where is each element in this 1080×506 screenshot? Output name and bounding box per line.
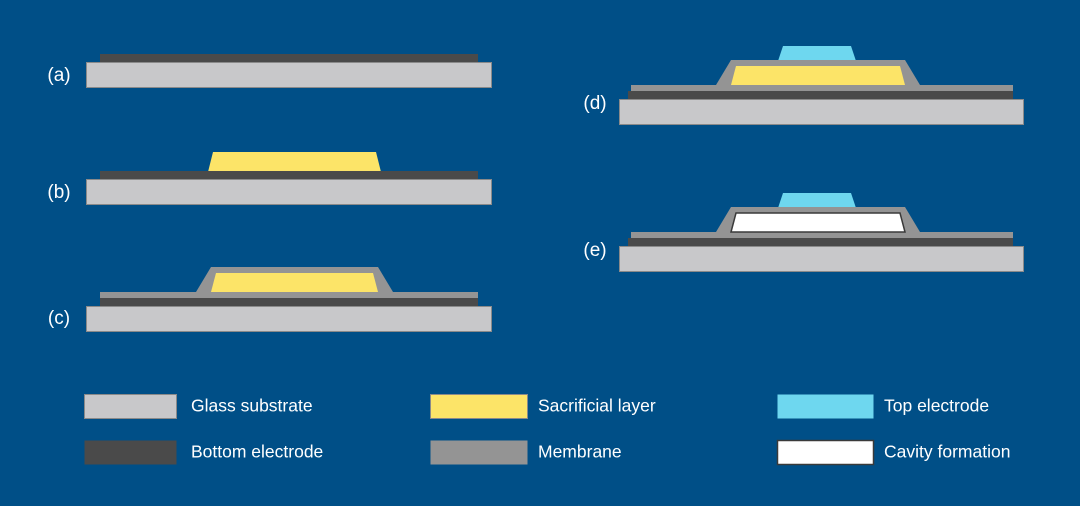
panel-e-bottom-electrode [628, 238, 1013, 247]
legend-item-membrane: Membrane [431, 441, 622, 465]
panel-d-glass-substrate [620, 100, 1024, 125]
panel-d-top-electrode [778, 46, 856, 61]
legend-label-bottom-electrode: Bottom electrode [191, 442, 323, 462]
legend-label-membrane: Membrane [538, 442, 622, 462]
legend-label-top-electrode: Top electrode [884, 396, 989, 416]
panel-c-label: (c) [48, 308, 70, 329]
panel-a-glass-substrate [87, 63, 492, 88]
panel-a-label: (a) [47, 65, 70, 86]
panel-e-top-electrode [778, 193, 856, 208]
legend-label-cavity-formation: Cavity formation [884, 442, 1010, 462]
legend-swatch-bottom-electrode [85, 441, 177, 465]
legend-item-cavity-formation: Cavity formation [778, 441, 1011, 465]
panel-c-sacrificial-layer [211, 273, 378, 292]
panel-d-bottom-electrode [628, 91, 1013, 100]
process-flow-diagram: (a) (b) (c) (d) [0, 0, 1080, 506]
legend-swatch-membrane [431, 441, 528, 465]
legend-swatch-top-electrode [778, 395, 874, 419]
legend-item-top-electrode: Top electrode [778, 395, 990, 419]
panel-e-label: (e) [583, 240, 606, 261]
legend-item-sacrificial-layer: Sacrificial layer [431, 395, 656, 419]
panel-e-glass-substrate [620, 247, 1024, 272]
legend-item-glass-substrate: Glass substrate [85, 395, 313, 419]
panel-b-bottom-electrode [100, 171, 478, 180]
legend-swatch-cavity-formation [778, 441, 874, 465]
panel-a: (a) [47, 54, 491, 88]
panel-c-bottom-electrode [100, 298, 478, 307]
panel-b-label: (b) [47, 182, 70, 203]
panel-a-bottom-electrode [100, 54, 478, 63]
panel-b-glass-substrate [87, 180, 492, 205]
legend-swatch-glass-substrate [85, 395, 177, 419]
legend-label-glass-substrate: Glass substrate [191, 396, 313, 416]
panel-d-sacrificial-layer [731, 66, 905, 85]
panel-e-cavity [731, 213, 905, 232]
panel-c-glass-substrate [87, 307, 492, 332]
legend-item-bottom-electrode: Bottom electrode [85, 441, 324, 465]
panel-d-label: (d) [583, 93, 606, 114]
panel-b-sacrificial-layer [208, 152, 381, 172]
legend-swatch-sacrificial-layer [431, 395, 528, 419]
legend-label-sacrificial-layer: Sacrificial layer [538, 396, 656, 416]
